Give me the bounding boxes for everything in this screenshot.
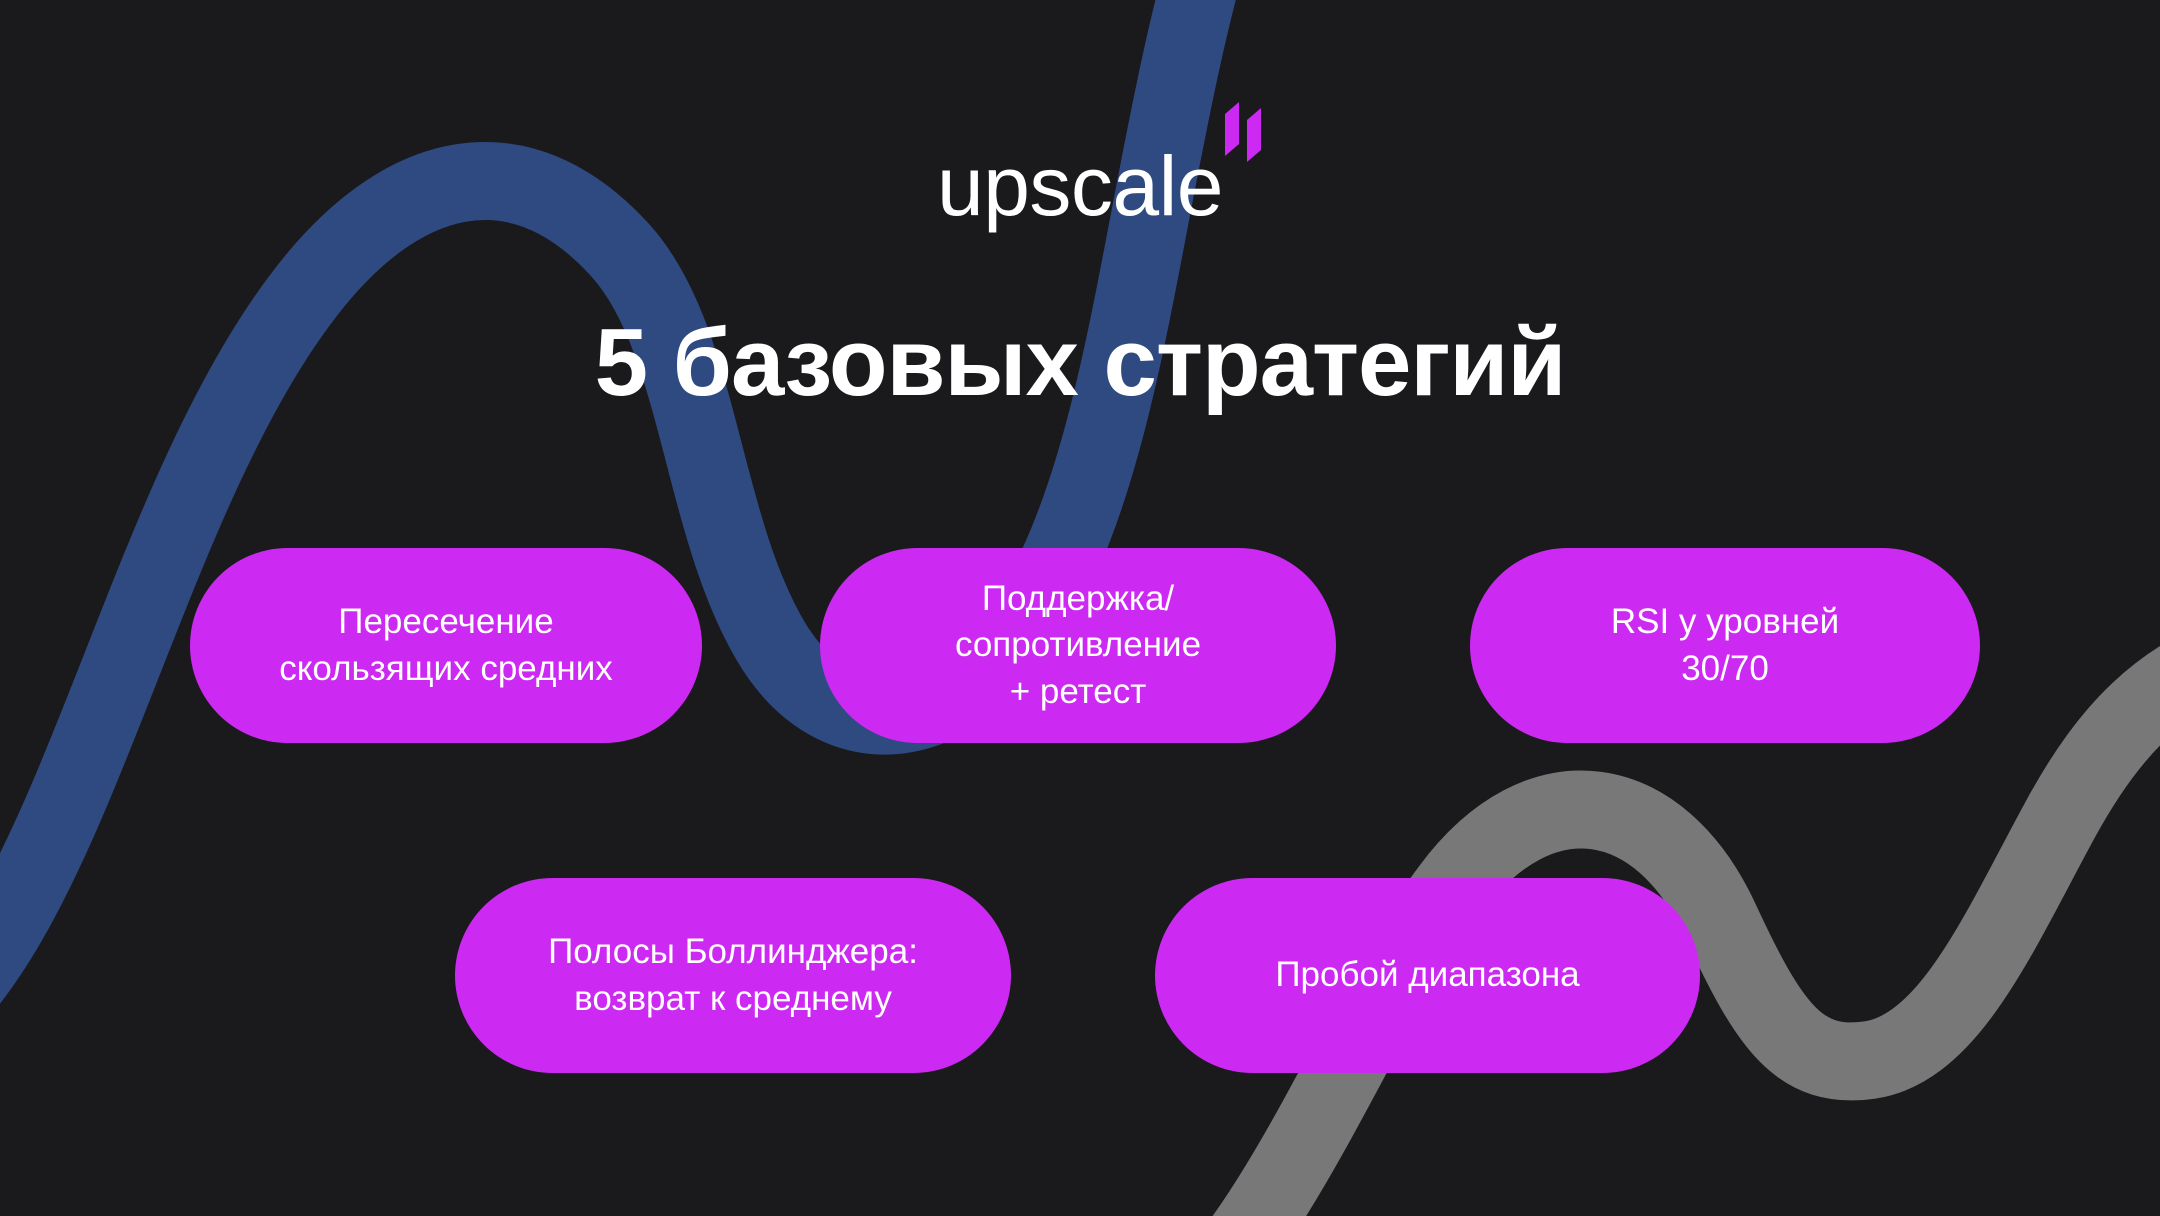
two-bars-logo-icon: [1221, 100, 1265, 162]
page-title: 5 базовых стратегий: [0, 310, 2160, 416]
strategy-pill-1[interactable]: Пересечение скользящих средних: [190, 548, 702, 743]
strategy-pill-2[interactable]: Поддержка/ сопротивление + ретест: [820, 548, 1336, 743]
brand-logo-inner: upscale: [937, 144, 1223, 228]
strategy-pill-3[interactable]: RSI у уровней 30/70: [1470, 548, 1980, 743]
slide-canvas: upscale 5 базовых стратегий Пересечение …: [0, 0, 2160, 1216]
brand-logo: upscale: [0, 118, 2160, 228]
brand-wordmark: upscale: [937, 144, 1223, 228]
strategy-pill-5[interactable]: Пробой диапазона: [1155, 878, 1700, 1073]
strategy-pill-4[interactable]: Полосы Боллинджера: возврат к среднему: [455, 878, 1011, 1073]
